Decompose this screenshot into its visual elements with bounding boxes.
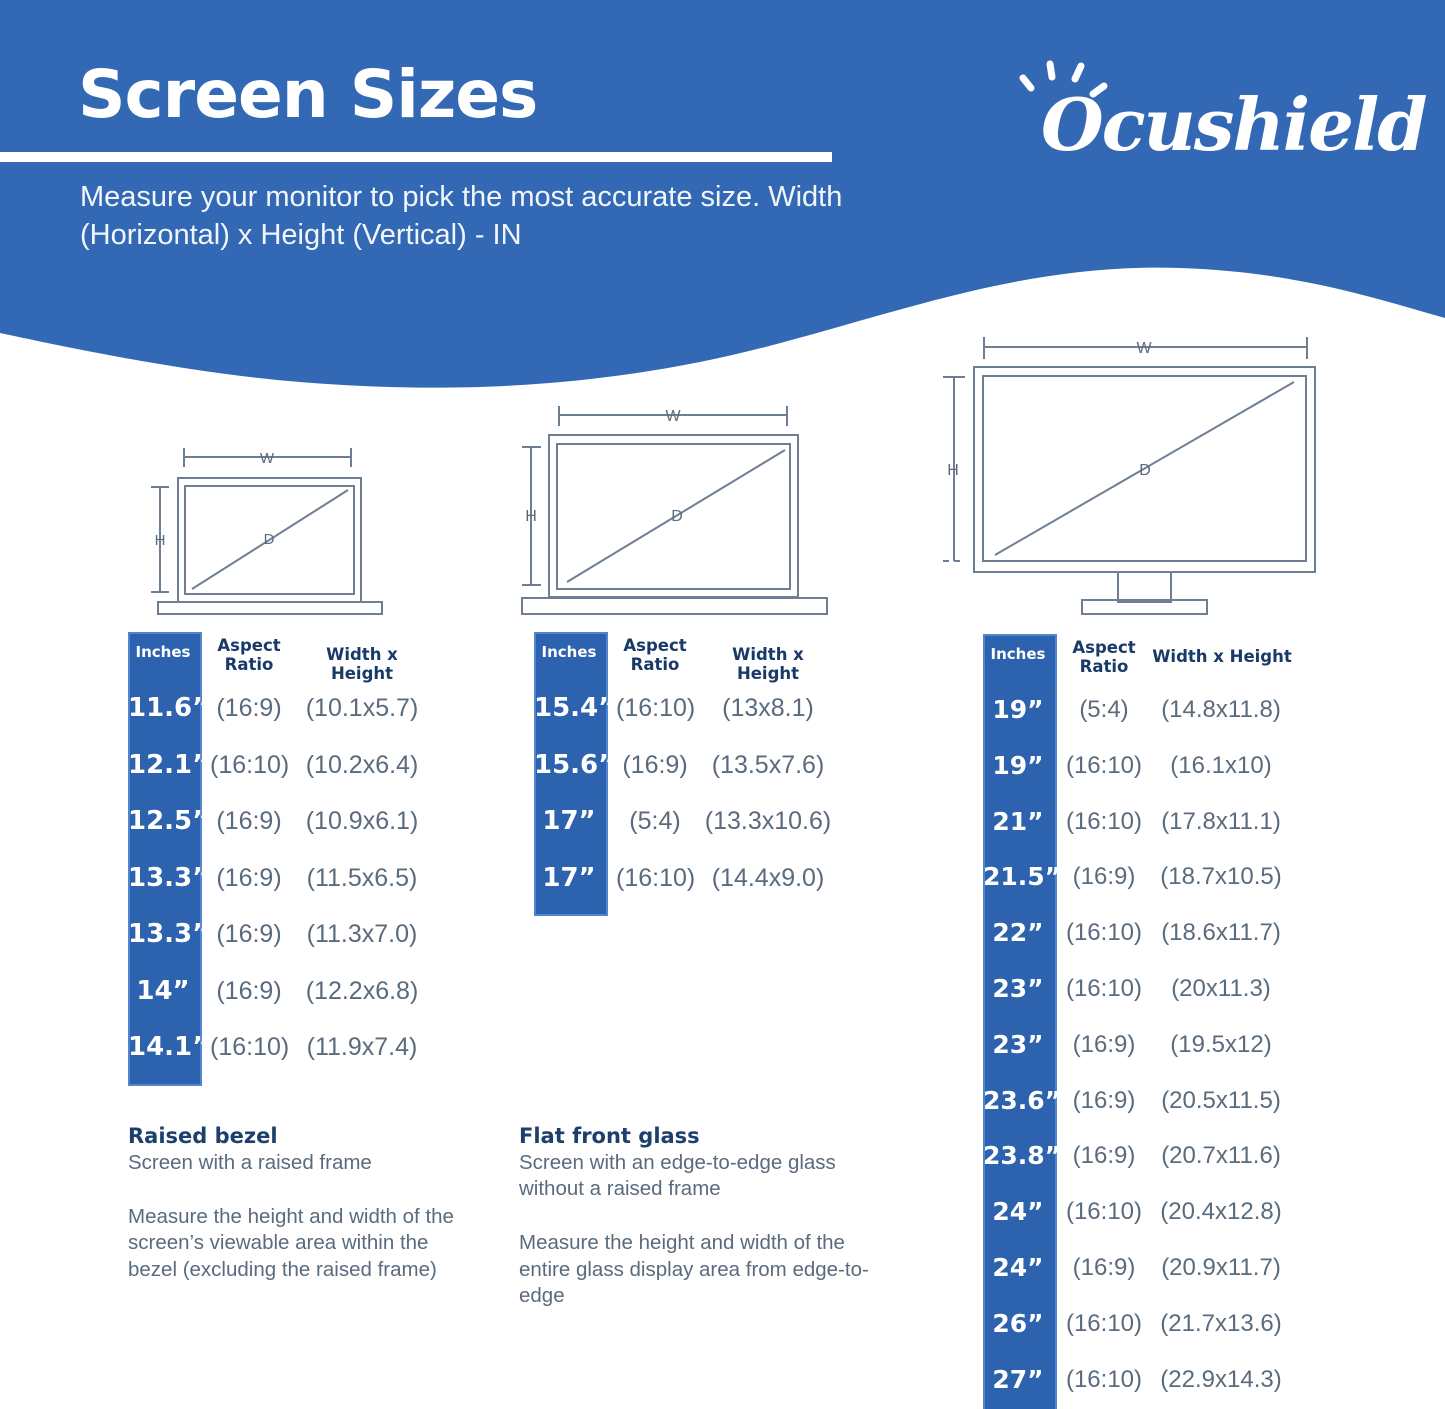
cell-inches: 11.6” — [128, 680, 198, 736]
cell-inches: 12.1” — [128, 737, 198, 793]
cell-inches: 22” — [983, 905, 1053, 961]
table-row: 24”(16:9)(20.9x11.7) — [983, 1240, 1293, 1296]
raised-bezel-note: Raised bezel Screen with a raised frame … — [128, 1124, 483, 1283]
cell-aspect-ratio: (16:10) — [1065, 961, 1143, 1017]
table-row: 26”(16:10)(21.7x13.6) — [983, 1296, 1293, 1352]
note-title: Flat front glass — [519, 1124, 874, 1148]
cell-inches: 17” — [534, 850, 604, 906]
table-header-row: Inches Aspect Ratio Width x Height — [534, 632, 834, 680]
ocushield-logo: Ocushield — [1005, 60, 1375, 180]
midsize-sizes-table: Inches Aspect Ratio Width x Height 15.4”… — [534, 632, 834, 680]
cell-inches: 26” — [983, 1296, 1053, 1352]
flat-front-glass-note: Flat front glass Screen with an edge-to-… — [519, 1124, 874, 1309]
cell-aspect-ratio: (16:9) — [210, 906, 288, 962]
cell-width-height: (22.9x14.3) — [1149, 1352, 1293, 1408]
flat-glass-screen-diagram: W H D — [510, 395, 840, 623]
cell-width-height: (13.5x7.6) — [702, 737, 834, 793]
cell-aspect-ratio: (16:10) — [1065, 905, 1143, 961]
cell-inches: 21.5” — [983, 849, 1053, 905]
height-label: H — [947, 462, 959, 479]
title-divider — [0, 152, 832, 162]
cell-inches: 15.6” — [534, 737, 604, 793]
cell-inches: 17” — [534, 793, 604, 849]
cell-width-height: (10.2x6.4) — [296, 737, 428, 793]
header-inches: Inches — [534, 644, 604, 661]
cell-inches: 21” — [983, 794, 1053, 850]
cell-inches: 23” — [983, 1017, 1053, 1073]
diagonal-label: D — [671, 508, 683, 525]
cell-width-height: (13x8.1) — [702, 680, 834, 736]
screen-sizes-infographic: Screen Sizes Measure your monitor to pic… — [0, 0, 1445, 1409]
cell-aspect-ratio: (16:9) — [616, 737, 694, 793]
cell-inches: 15.4” — [534, 680, 604, 736]
cell-width-height: (18.7x10.5) — [1149, 849, 1293, 905]
cell-aspect-ratio: (16:9) — [210, 963, 288, 1019]
table-row: 15.6”(16:9)(13.5x7.6) — [534, 737, 834, 793]
header-aspect-ratio: Aspect Ratio — [616, 637, 694, 675]
cell-width-height: (20.5x11.5) — [1149, 1073, 1293, 1129]
cell-aspect-ratio: (16:9) — [1065, 1017, 1143, 1073]
cell-inches: 13.3” — [128, 906, 198, 962]
diagonal-label: D — [1139, 462, 1151, 479]
monitor-screen-diagram: W H D — [930, 325, 1330, 625]
cell-width-height: (18.6x11.7) — [1149, 905, 1293, 961]
cell-width-height: (20x11.3) — [1149, 961, 1293, 1017]
header-width-height: Width x Height — [1151, 648, 1293, 667]
cell-aspect-ratio: (16:9) — [1065, 1128, 1143, 1184]
header-aspect-ratio: Aspect Ratio — [210, 637, 288, 675]
cell-aspect-ratio: (16:10) — [210, 1019, 288, 1075]
cell-inches: 19” — [983, 682, 1053, 738]
cell-inches: 23” — [983, 961, 1053, 1017]
cell-inches: 14.1” — [128, 1019, 198, 1075]
cell-aspect-ratio: (16:9) — [210, 850, 288, 906]
width-label: W — [1136, 340, 1152, 357]
table-row: 17”(16:10)(14.4x9.0) — [534, 850, 834, 906]
cell-aspect-ratio: (16:9) — [1065, 1240, 1143, 1296]
table-row: 19”(5:4)(14.8x11.8) — [983, 682, 1293, 738]
cell-inches: 14” — [128, 963, 198, 1019]
table-row: 11.6”(16:9)(10.1x5.7) — [128, 680, 428, 736]
laptop-sizes-table: Inches Aspect Ratio Width x Height 11.6”… — [128, 632, 428, 680]
page-title: Screen Sizes — [78, 62, 537, 128]
cell-width-height: (14.4x9.0) — [702, 850, 834, 906]
table-row: 27”(16:10)(22.9x14.3) — [983, 1352, 1293, 1408]
table-row: 13.3”(16:9)(11.3x7.0) — [128, 906, 428, 962]
page-subtitle: Measure your monitor to pick the most ac… — [80, 178, 870, 255]
table-row: 19”(16:10)(16.1x10) — [983, 738, 1293, 794]
width-label: W — [260, 450, 275, 467]
cell-width-height: (21.7x13.6) — [1149, 1296, 1293, 1352]
header-width-height: Width x Height — [702, 646, 834, 684]
cell-inches: 12.5” — [128, 793, 198, 849]
table-row: 21”(16:10)(17.8x11.1) — [983, 794, 1293, 850]
table-row: 14.1”(16:10)(11.9x7.4) — [128, 1019, 428, 1075]
table-row: 21.5”(16:9)(18.7x10.5) — [983, 849, 1293, 905]
table-row: 13.3”(16:9)(11.5x6.5) — [128, 850, 428, 906]
cell-width-height: (20.9x11.7) — [1149, 1240, 1293, 1296]
cell-width-height: (19.5x12) — [1149, 1017, 1293, 1073]
cell-inches: 13.3” — [128, 850, 198, 906]
cell-width-height: (16.1x10) — [1149, 738, 1293, 794]
cell-inches: 19” — [983, 738, 1053, 794]
cell-inches: 24” — [983, 1184, 1053, 1240]
cell-aspect-ratio: (16:10) — [616, 680, 694, 736]
table-row: 23.8”(16:9)(20.7x11.6) — [983, 1128, 1293, 1184]
cell-inches: 23.6” — [983, 1073, 1053, 1129]
cell-width-height: (13.3x10.6) — [702, 793, 834, 849]
laptop-screen-diagram: W H D — [140, 440, 410, 625]
brand-name: Ocushield — [1041, 82, 1426, 167]
table-row: 14”(16:9)(12.2x6.8) — [128, 963, 428, 1019]
table-row: 24”(16:10)(20.4x12.8) — [983, 1184, 1293, 1240]
cell-aspect-ratio: (5:4) — [616, 793, 694, 849]
note-subtitle: Screen with an edge-to-edge glass withou… — [519, 1150, 874, 1202]
table-header-row: Inches Aspect Ratio Width x Height — [983, 634, 1293, 682]
cell-width-height: (11.5x6.5) — [296, 850, 428, 906]
header-width-height: Width x Height — [296, 646, 428, 684]
cell-aspect-ratio: (16:9) — [1065, 849, 1143, 905]
diagonal-label: D — [264, 531, 275, 548]
cell-aspect-ratio: (5:4) — [1065, 682, 1143, 738]
cell-width-height: (11.9x7.4) — [296, 1019, 428, 1075]
table-row: 23”(16:10)(20x11.3) — [983, 961, 1293, 1017]
cell-inches: 27” — [983, 1352, 1053, 1408]
note-title: Raised bezel — [128, 1124, 483, 1148]
header-inches: Inches — [128, 644, 198, 661]
cell-width-height: (12.2x6.8) — [296, 963, 428, 1019]
cell-aspect-ratio: (16:9) — [210, 680, 288, 736]
note-body: Measure the height and width of the scre… — [128, 1204, 483, 1283]
height-label: H — [525, 508, 537, 525]
cell-inches: 23.8” — [983, 1128, 1053, 1184]
height-label: H — [155, 532, 166, 549]
cell-width-height: (20.4x12.8) — [1149, 1184, 1293, 1240]
table-row: 15.4”(16:10)(13x8.1) — [534, 680, 834, 736]
table-row: 23.6”(16:9)(20.5x11.5) — [983, 1073, 1293, 1129]
cell-aspect-ratio: (16:10) — [1065, 1352, 1143, 1408]
cell-aspect-ratio: (16:10) — [1065, 794, 1143, 850]
note-body: Measure the height and width of the enti… — [519, 1230, 874, 1309]
cell-aspect-ratio: (16:10) — [616, 850, 694, 906]
table-row: 23”(16:9)(19.5x12) — [983, 1017, 1293, 1073]
cell-width-height: (17.8x11.1) — [1149, 794, 1293, 850]
cell-width-height: (20.7x11.6) — [1149, 1128, 1293, 1184]
table-row: 17”(5:4)(13.3x10.6) — [534, 793, 834, 849]
cell-aspect-ratio: (16:9) — [210, 793, 288, 849]
cell-width-height: (10.9x6.1) — [296, 793, 428, 849]
table-row: 22”(16:10)(18.6x11.7) — [983, 905, 1293, 961]
monitor-sizes-table: Inches Aspect Ratio Width x Height 19”(5… — [983, 634, 1293, 682]
table-row: 12.5”(16:9)(10.9x6.1) — [128, 793, 428, 849]
cell-aspect-ratio: (16:10) — [1065, 1296, 1143, 1352]
header-inches: Inches — [983, 646, 1053, 663]
width-label: W — [665, 408, 681, 425]
table-row: 12.1”(16:10)(10.2x6.4) — [128, 737, 428, 793]
cell-width-height: (10.1x5.7) — [296, 680, 428, 736]
cell-aspect-ratio: (16:10) — [210, 737, 288, 793]
note-subtitle: Screen with a raised frame — [128, 1150, 483, 1176]
cell-aspect-ratio: (16:10) — [1065, 1184, 1143, 1240]
cell-aspect-ratio: (16:9) — [1065, 1073, 1143, 1129]
cell-aspect-ratio: (16:10) — [1065, 738, 1143, 794]
table-header-row: Inches Aspect Ratio Width x Height — [128, 632, 428, 680]
cell-width-height: (11.3x7.0) — [296, 906, 428, 962]
cell-inches: 24” — [983, 1240, 1053, 1296]
header-aspect-ratio: Aspect Ratio — [1065, 639, 1143, 677]
cell-width-height: (14.8x11.8) — [1149, 682, 1293, 738]
